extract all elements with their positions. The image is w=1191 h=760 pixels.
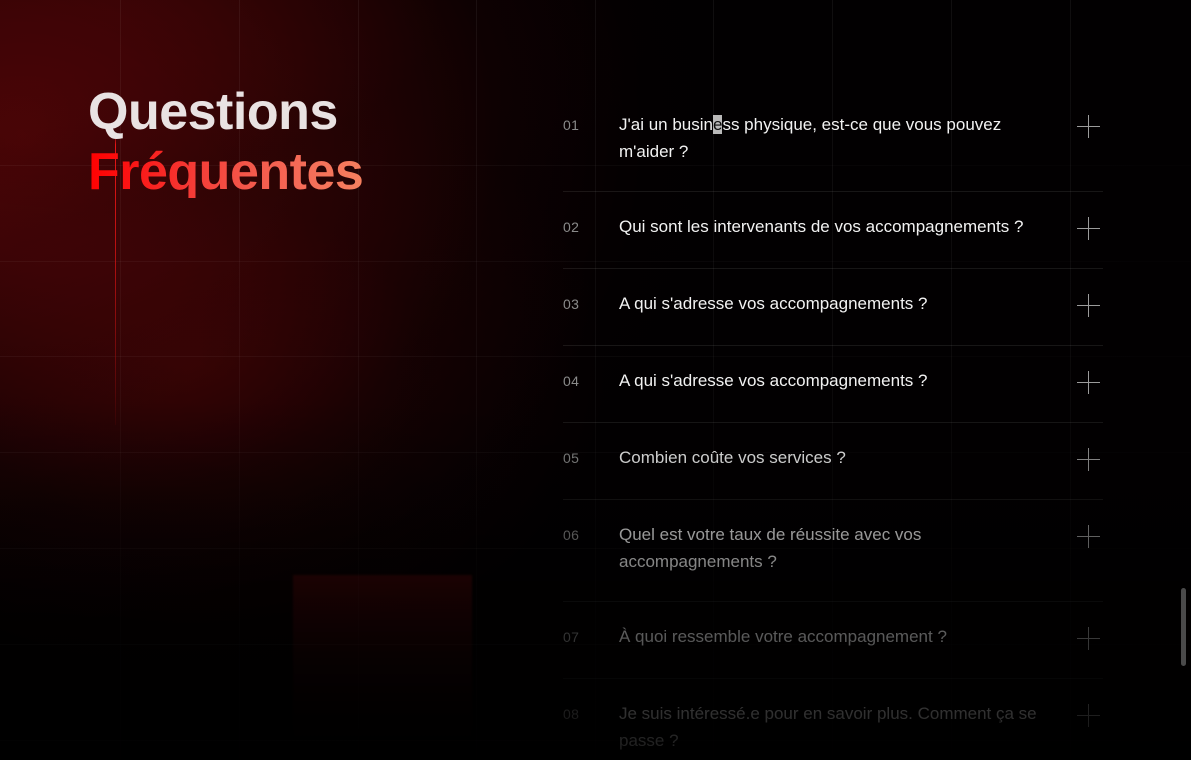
faq-item-number: 04 — [563, 368, 619, 392]
scrollbar-thumb[interactable] — [1181, 588, 1186, 666]
faq-item[interactable]: 02 Qui sont les intervenants de vos acco… — [563, 192, 1103, 269]
bottom-fade-overlay — [0, 400, 1191, 760]
section-title: Questions Fréquentes — [88, 86, 363, 198]
faq-item-number: 03 — [563, 291, 619, 315]
faq-item-number: 01 — [563, 112, 619, 136]
page-root: Questions Fréquentes 01 J'ai un business… — [0, 0, 1191, 760]
faq-item[interactable]: 01 J'ai un business physique, est-ce que… — [563, 90, 1103, 192]
faq-question-text-pre: J'ai un busin — [619, 115, 713, 134]
plus-icon[interactable] — [1077, 216, 1103, 242]
faq-item-question: Qui sont les intervenants de vos accompa… — [619, 214, 1077, 241]
section-title-line-1: Questions — [88, 86, 363, 138]
faq-item-number: 02 — [563, 214, 619, 238]
scrollbar[interactable] — [1177, 0, 1191, 760]
section-title-line-2: Fréquentes — [88, 146, 363, 198]
faq-item-question: J'ai un business physique, est-ce que vo… — [619, 112, 1077, 165]
plus-icon[interactable] — [1077, 293, 1103, 319]
faq-item[interactable]: 03 A qui s'adresse vos accompagnements ? — [563, 269, 1103, 346]
faq-item-question: A qui s'adresse vos accompagnements ? — [619, 368, 1077, 395]
plus-icon[interactable] — [1077, 114, 1103, 140]
plus-icon[interactable] — [1077, 370, 1103, 396]
faq-item-question: A qui s'adresse vos accompagnements ? — [619, 291, 1077, 318]
